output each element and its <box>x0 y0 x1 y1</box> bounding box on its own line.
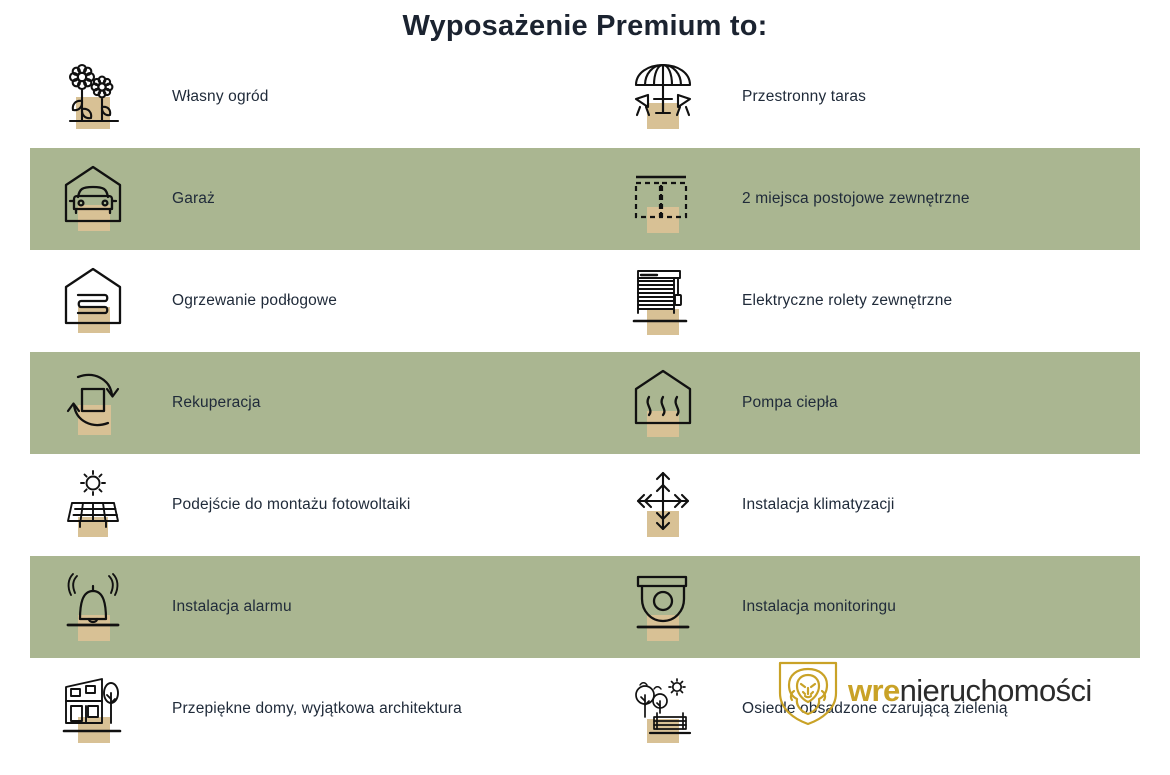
feature-item: Rekuperacja <box>0 367 610 439</box>
roller-blind-icon <box>630 265 696 337</box>
air-recuperation-icon <box>60 367 126 439</box>
feature-item: Ogrzewanie podłogowe <box>0 265 610 337</box>
feature-row: Własny ogród <box>0 46 1170 148</box>
feature-label: Instalacja alarmu <box>172 598 292 616</box>
feature-item: Instalacja monitoringu <box>610 571 1170 643</box>
logo-wordmark: wrenieruchomości <box>848 675 1092 707</box>
feature-label: Instalacja monitoringu <box>742 598 896 616</box>
feature-label: Podejście do montażu fotowoltaiki <box>172 496 410 514</box>
page-title: Wyposażenie Premium to: <box>0 6 1170 46</box>
lion-head-shield-icon <box>772 655 844 727</box>
solar-panel-sun-icon <box>60 469 126 541</box>
feature-label: Elektryczne rolety zewnętrzne <box>742 292 952 310</box>
house-underfloor-heating-icon <box>60 265 126 337</box>
feature-row: Garaż 2 miejsca postojowe zewnętrzne <box>0 148 1170 250</box>
patio-umbrella-table-icon <box>630 61 696 133</box>
feature-item: Instalacja alarmu <box>0 571 610 643</box>
feature-row: Instalacja alarmu Instalacja monitoringu <box>0 556 1170 658</box>
feature-item: 2 miejsca postojowe zewnętrzne <box>610 163 1170 235</box>
brand-logo[interactable]: wrenieruchomości <box>772 655 1132 727</box>
alarm-bell-icon <box>60 571 126 643</box>
feature-label: 2 miejsca postojowe zewnętrzne <box>742 190 970 208</box>
snowflake-icon <box>630 469 696 541</box>
feature-row: Rekuperacja Pompa ciepła <box>0 352 1170 454</box>
flowers-in-planter-icon <box>60 61 126 133</box>
modern-house-tree-icon <box>60 673 126 745</box>
park-bench-trees-icon <box>630 673 696 745</box>
feature-item: Garaż <box>0 163 610 235</box>
garage-car-icon <box>60 163 126 235</box>
cctv-camera-icon <box>630 571 696 643</box>
feature-label: Garaż <box>172 190 215 208</box>
feature-label: Rekuperacja <box>172 394 261 412</box>
premium-equipment-page: Wyposażenie Premium to: <box>0 0 1170 775</box>
feature-row: Podejście do montażu fotowoltaiki <box>0 454 1170 556</box>
feature-label: Instalacja klimatyzacji <box>742 496 894 514</box>
feature-item: Pompa ciepła <box>610 367 1170 439</box>
feature-label: Ogrzewanie podłogowe <box>172 292 337 310</box>
feature-label: Przepiękne domy, wyjątkowa architektura <box>172 700 462 718</box>
feature-row: Ogrzewanie podłogowe Elektryczne rol <box>0 250 1170 352</box>
feature-rows: Własny ogród <box>0 46 1170 760</box>
feature-item: Elektryczne rolety zewnętrzne <box>610 265 1170 337</box>
feature-item: Instalacja klimatyzacji <box>610 469 1170 541</box>
feature-item: Własny ogród <box>0 61 610 133</box>
logo-text-gold: wre <box>848 673 900 708</box>
logo-text-dark: nieruchomości <box>900 673 1092 708</box>
feature-label: Pompa ciepła <box>742 394 838 412</box>
feature-label: Własny ogród <box>172 88 269 106</box>
feature-label: Przestronny taras <box>742 88 866 106</box>
feature-item: Podejście do montażu fotowoltaiki <box>0 469 610 541</box>
feature-item: Przepiękne domy, wyjątkowa architektura <box>0 673 610 745</box>
parking-spaces-dashed-icon <box>630 163 696 235</box>
feature-item: Przestronny taras <box>610 61 1170 133</box>
house-heat-pump-icon <box>630 367 696 439</box>
